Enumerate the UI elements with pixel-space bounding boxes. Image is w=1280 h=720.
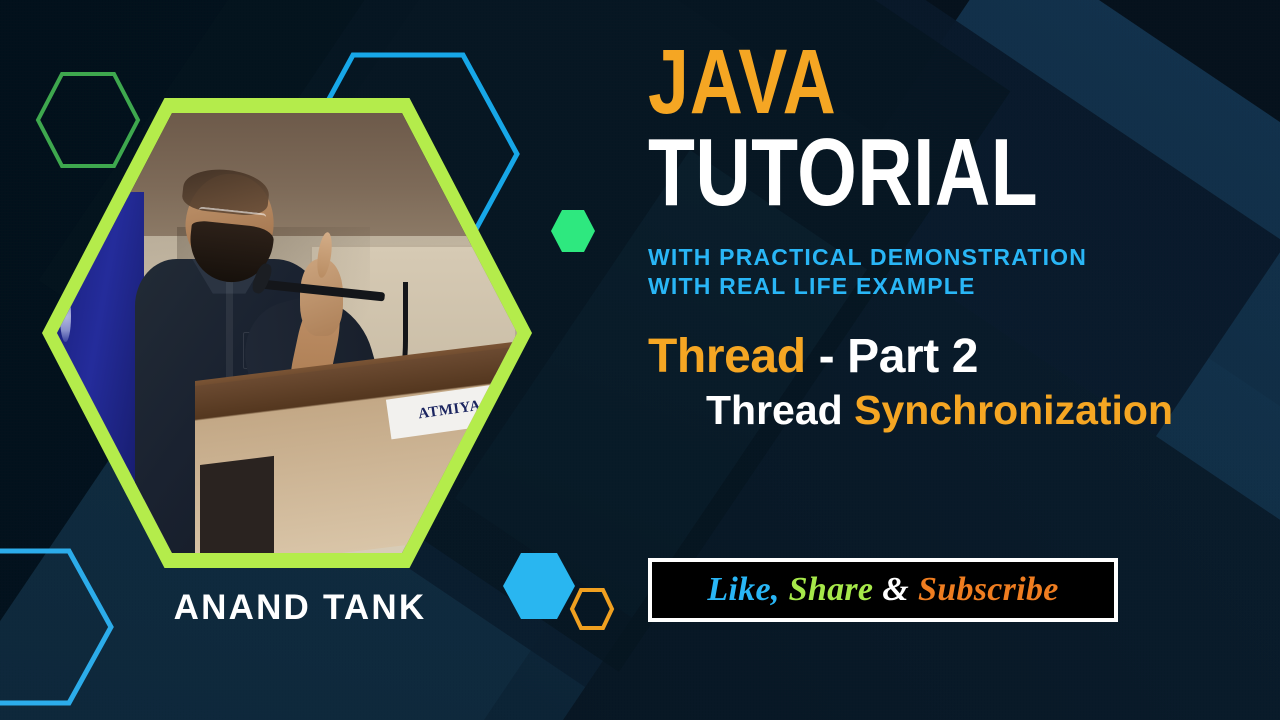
banner-share-text: Share: [789, 571, 874, 609]
title-block: JAVA TUTORIAL WITH PRACTICAL DEMONSTRATI…: [648, 40, 1268, 433]
topic-rest-text: - Part 2: [806, 330, 978, 383]
title-line-tutorial: TUTORIAL: [648, 129, 1144, 217]
subtitle-line-1: WITH PRACTICAL DEMONSTRATION: [648, 243, 1268, 272]
topic-sub-accent-text: Synchronization: [854, 387, 1173, 433]
title-line-java: JAVA: [648, 40, 1144, 125]
presenter-portrait: ATMIYA U: [42, 98, 532, 568]
topic-subheading: Thread Synchronization: [648, 388, 1268, 433]
banner-ampersand-text: &: [882, 571, 909, 609]
topic-sub-plain-text: Thread: [706, 387, 854, 433]
video-thumbnail: ATMIYA U ANAND TANK JAVA TUTORIAL WITH P…: [0, 0, 1280, 720]
hexagon-solid-icon-green: [551, 210, 595, 252]
subtitle-line-2: WITH REAL LIFE EXAMPLE: [648, 272, 1268, 301]
like-share-subscribe-banner[interactable]: Like, Share & Subscribe: [648, 558, 1118, 622]
subtitle-block: WITH PRACTICAL DEMONSTRATION WITH REAL L…: [648, 243, 1268, 302]
podium-shadow-block: [200, 456, 274, 553]
topic-heading: Thread - Part 2: [648, 332, 1268, 382]
banner-like-text: Like,: [707, 571, 779, 609]
banner-subscribe-text: Subscribe: [918, 571, 1059, 609]
topic-accent-text: Thread: [648, 330, 806, 383]
presenter-name-label: ANAND TANK: [0, 588, 600, 628]
